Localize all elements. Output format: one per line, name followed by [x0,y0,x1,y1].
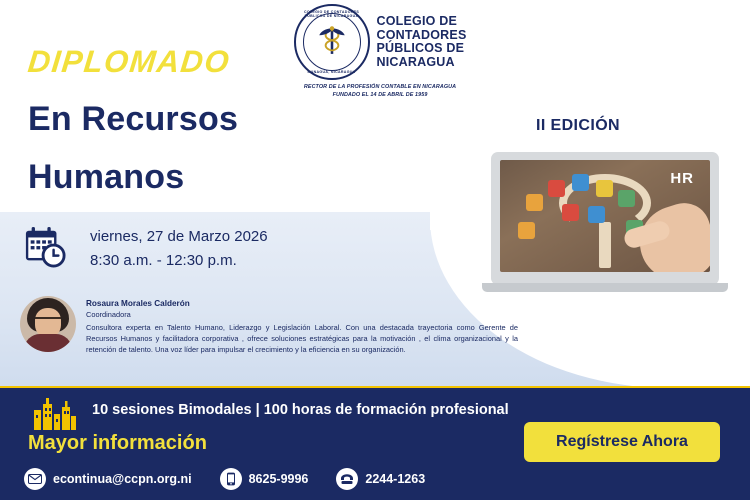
cube-orange-2 [518,222,535,239]
avatar [20,296,76,352]
envelope-icon [24,468,46,490]
contact-landline-value: 2244-1263 [365,472,425,486]
speaker-role: Coordinadora [86,310,131,319]
poster: COLEGIO DE CONTADORES PUBLICOS DE NICARA… [0,0,750,500]
avatar-body [24,334,72,352]
tree-trunk-shape [599,222,611,268]
cube-yellow-1 [596,180,613,197]
event-time: 8:30 a.m. - 12:30 p.m. [90,252,237,269]
laptop-illustration: HR [482,152,728,302]
register-now-button[interactable]: Regístrese Ahora [524,422,720,462]
cube-orange-1 [526,194,543,211]
speaker-bio: Consultora experta en Talento Humano, Li… [86,322,518,356]
logo-row: COLEGIO DE CONTADORES PUBLICOS DE NICARA… [294,4,467,80]
kicker-diplomado: DIPLOMADO [26,44,232,80]
screen-hr-label: HR [670,170,694,187]
contact-row: econtinua@ccpn.org.ni 8625-9996 2244-126… [24,468,425,490]
contact-landline[interactable]: 2244-1263 [336,468,425,490]
avatar-glasses [35,317,61,324]
logo-tagline-line-1: RECTOR DE LA PROFESIÓN CONTABLE EN NICAR… [304,84,456,92]
speaker-name: Rosaura Morales Calderón [86,299,190,308]
logo-wordmark: COLEGIO DE CONTADORES PÚBLICOS DE NICARA… [377,15,467,69]
cube-green-1 [618,190,635,207]
laptop-body: HR [491,152,719,285]
contact-mobile[interactable]: 8625-9996 [220,468,309,490]
laptop-base [482,283,728,292]
seal-text-bottom: MANAGUA, NICARAGUA [296,70,368,74]
contact-email[interactable]: econtinua@ccpn.org.ni [24,468,192,490]
cube-blue-1 [572,174,589,191]
logo-tagline: RECTOR DE LA PROFESIÓN CONTABLE EN NICAR… [304,84,456,99]
organization-logo: COLEGIO DE CONTADORES PUBLICOS DE NICARA… [272,4,488,108]
logo-line-4: NICARAGUA [377,56,467,70]
edition-badge: II EDICIÓN [536,117,620,135]
page-title-line-2: Humanos [28,158,184,197]
logo-tagline-line-2: FUNDADO EL 14 DE ABRIL DE 1959 [304,92,456,100]
logo-line-2: CONTADORES [377,29,467,43]
contact-mobile-value: 8625-9996 [249,472,309,486]
calendar-clock-icon [24,226,66,268]
seal-text-top: COLEGIO DE CONTADORES PUBLICOS DE NICARA… [296,10,368,18]
event-date: viernes, 27 de Marzo 2026 [90,228,268,245]
city-skyline-icon [32,396,78,430]
cube-blue-2 [588,206,605,223]
logo-line-3: PÚBLICOS DE [377,42,467,56]
page-title-line-1: En Recursos [28,100,238,139]
more-info-heading: Mayor información [28,432,207,455]
caduceus-icon [315,25,349,59]
phone-landline-icon [336,468,358,490]
cube-red-1 [548,180,565,197]
cube-red-2 [562,204,579,221]
logo-line-1: COLEGIO DE [377,15,467,29]
laptop-screen: HR [500,160,710,272]
sessions-text: 10 sesiones Bimodales | 100 horas de for… [92,402,509,418]
seal-icon: COLEGIO DE CONTADORES PUBLICOS DE NICARA… [294,4,370,80]
contact-email-value: econtinua@ccpn.org.ni [53,472,192,486]
phone-mobile-icon [220,468,242,490]
